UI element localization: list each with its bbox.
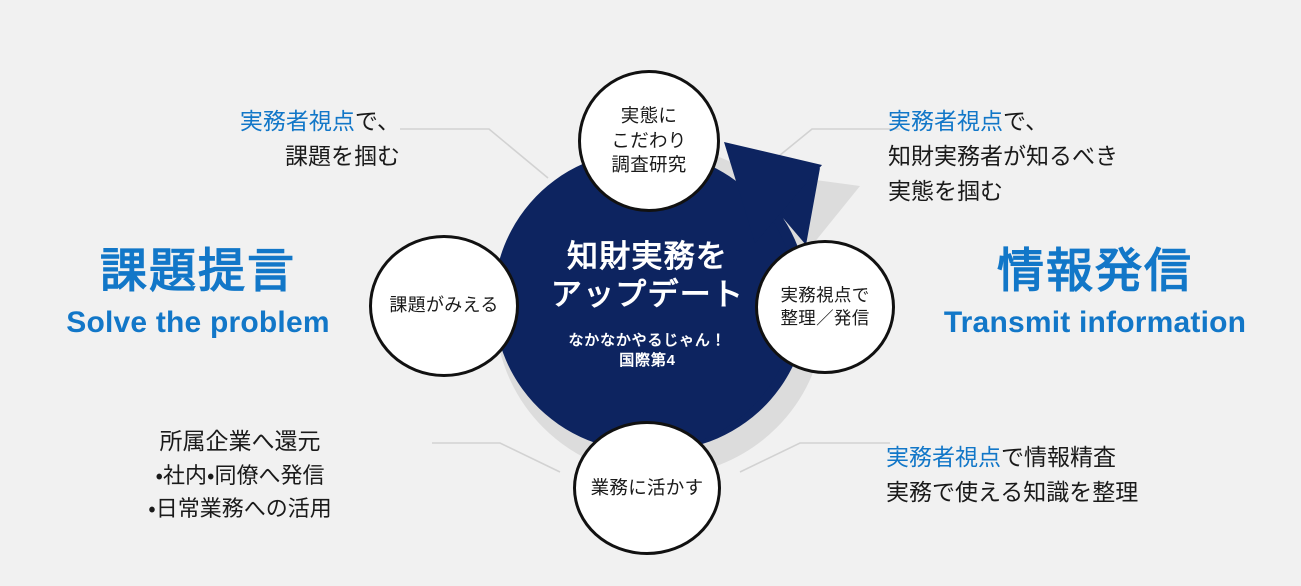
note-bottom-right-line1: 実務者視点で情報精査 bbox=[886, 440, 1266, 475]
note-top-left-rest: で、 bbox=[355, 108, 400, 134]
note-top-left-line1: 実務者視点で、 bbox=[60, 104, 400, 139]
note-bottom-right: 実務者視点で情報精査 実務で使える知識を整理 bbox=[886, 440, 1266, 510]
connector-top-right bbox=[752, 129, 900, 178]
connector-bottom-left bbox=[432, 443, 560, 472]
node-research[interactable]: 実態に こだわり 調査研究 bbox=[578, 70, 720, 212]
diagram-canvas: 知財実務を アップデート なかなかやるじゃん！ 国際第4 実態に こだわり 調査… bbox=[0, 0, 1301, 586]
note-bottom-right-rest: で情報精査 bbox=[1001, 444, 1116, 470]
note-bottom-left-line3: ・日常業務への活用 bbox=[60, 492, 420, 525]
node-research-label: 実態に こだわり 調査研究 bbox=[611, 104, 686, 177]
note-top-right-line2: 知財実務者が知るべき bbox=[888, 139, 1268, 174]
heading-left-en: Solve the problem bbox=[48, 306, 348, 339]
node-organize-publish[interactable]: 実務視点で 整理／発信 bbox=[755, 240, 895, 374]
heading-transmit-information: 情報発信 Transmit information bbox=[920, 245, 1270, 339]
note-top-right-line1: 実務者視点で、 bbox=[888, 104, 1268, 139]
note-top-left-accent: 実務者視点 bbox=[240, 108, 355, 134]
heading-left-jp: 課題提言 bbox=[48, 245, 348, 297]
note-bottom-left-line1: 所属企業へ還元 bbox=[60, 424, 420, 459]
note-bottom-right-line2: 実務で使える知識を整理 bbox=[886, 475, 1266, 510]
node-see-issues-label: 課題がみえる bbox=[389, 294, 498, 318]
note-top-right-line3: 実態を掴む bbox=[888, 174, 1268, 209]
node-organize-publish-label: 実務視点で 整理／発信 bbox=[781, 284, 870, 330]
note-top-right: 実務者視点で、 知財実務者が知るべき 実態を掴む bbox=[888, 104, 1268, 209]
note-top-right-accent: 実務者視点 bbox=[888, 108, 1003, 134]
note-bottom-right-accent: 実務者視点 bbox=[886, 444, 1001, 470]
connector-bottom-right bbox=[740, 443, 890, 472]
heading-right-en: Transmit information bbox=[920, 306, 1270, 339]
heading-right-jp: 情報発信 bbox=[920, 245, 1270, 297]
node-see-issues[interactable]: 課題がみえる bbox=[369, 235, 519, 377]
node-apply-to-work[interactable]: 業務に活かす bbox=[573, 421, 721, 555]
note-top-left-line2: 課題を掴む bbox=[60, 139, 400, 174]
note-bottom-left-line2: ・社内・同僚へ発信 bbox=[60, 459, 420, 492]
note-top-right-rest: で、 bbox=[1003, 108, 1048, 134]
center-message: 知財実務を アップデート なかなかやるじゃん！ 国際第4 bbox=[510, 238, 785, 371]
center-sub-text: なかなかやるじゃん！ 国際第4 bbox=[510, 331, 785, 372]
note-bottom-left: 所属企業へ還元 ・社内・同僚へ発信 ・日常業務への活用 bbox=[60, 424, 420, 526]
heading-solve-the-problem: 課題提言 Solve the problem bbox=[48, 245, 348, 339]
center-main-text: 知財実務を アップデート bbox=[510, 238, 785, 314]
connector-top-left bbox=[400, 129, 548, 178]
note-top-left: 実務者視点で、 課題を掴む bbox=[60, 104, 400, 174]
node-apply-to-work-label: 業務に活かす bbox=[591, 476, 704, 500]
